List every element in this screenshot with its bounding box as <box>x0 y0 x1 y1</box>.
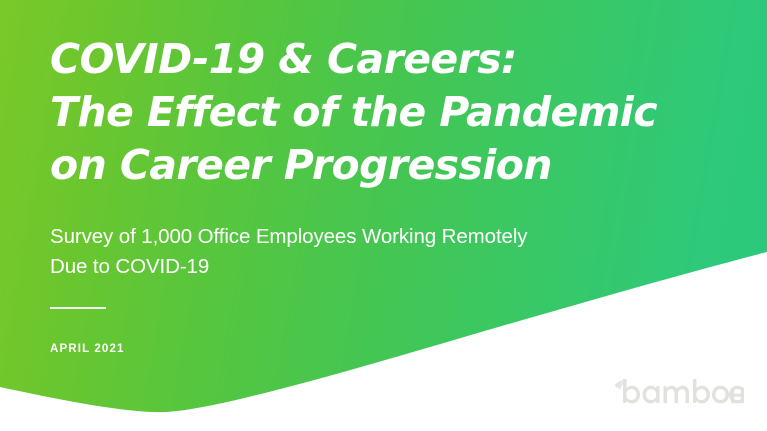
bamboohr-logo <box>612 376 744 406</box>
subtitle: Survey of 1,000 Office Employees Working… <box>50 222 690 282</box>
bamboohr-logo-mark <box>612 376 744 406</box>
divider-rule <box>50 307 106 309</box>
publication-date: APRIL 2021 <box>50 343 125 355</box>
subtitle-line-2: Due to COVID-19 <box>50 252 690 282</box>
cover-content: COVID-19 & Careers: The Effect of the Pa… <box>50 0 750 431</box>
page-title: COVID-19 & Careers: The Effect of the Pa… <box>50 33 710 192</box>
title-line-2: The Effect of the Pandemic <box>50 86 710 139</box>
title-line-1: COVID-19 & Careers: <box>50 33 710 86</box>
title-line-3: on Career Progression <box>50 139 710 192</box>
report-cover-slide: COVID-19 & Careers: The Effect of the Pa… <box>0 0 767 431</box>
subtitle-line-1: Survey of 1,000 Office Employees Working… <box>50 222 690 252</box>
